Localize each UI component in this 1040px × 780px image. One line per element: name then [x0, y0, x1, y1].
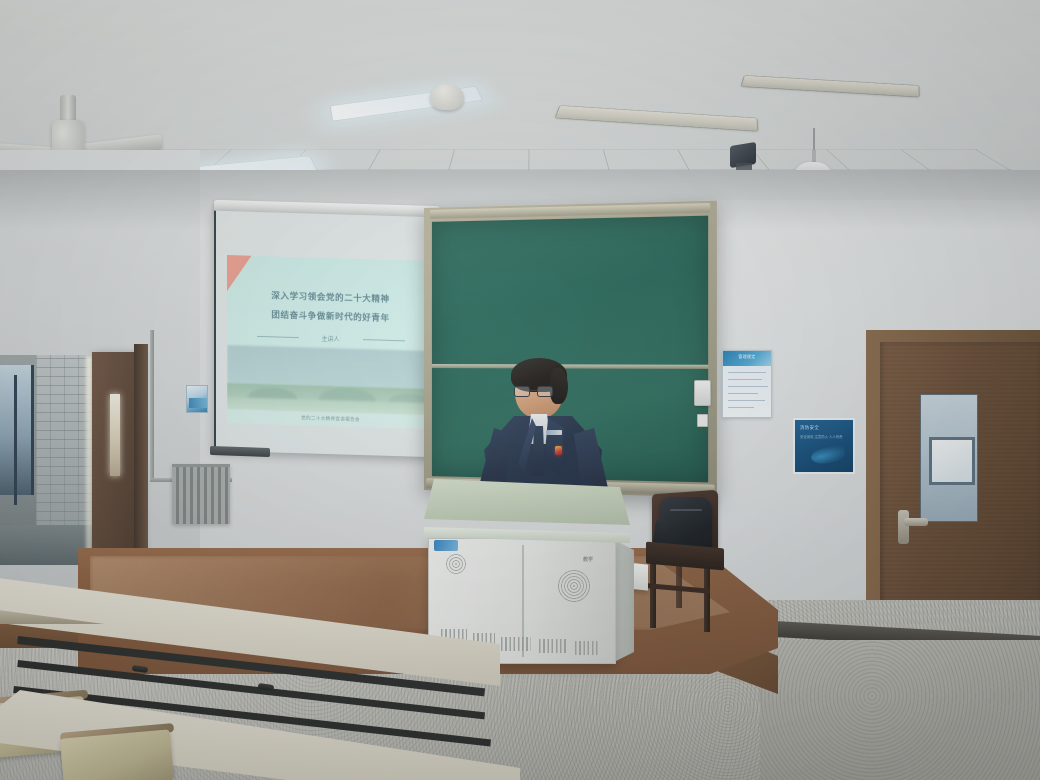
- podium-brand-sticker: [434, 540, 458, 551]
- fire-poster-graphic: [810, 444, 847, 467]
- poster-text-line: [728, 393, 758, 394]
- slide-foreground-graphic: [227, 383, 434, 415]
- podium-vent-slot: [539, 639, 567, 653]
- party-lapel-pin-icon: [555, 446, 562, 455]
- sign-color-strip: [189, 398, 207, 408]
- open-classroom-door[interactable]: [92, 352, 140, 568]
- door-handle-plate: [898, 510, 909, 544]
- exterior-window: [0, 365, 34, 495]
- left-door-frame: [134, 344, 148, 570]
- podium-speaker-grille-left: [445, 553, 467, 575]
- poster-text-line: [728, 379, 762, 380]
- podium-vent-slot: [575, 641, 599, 655]
- blue-wall-sign: [186, 385, 208, 413]
- slide-title-line-2: 团结奋斗争做新时代的好青年: [227, 307, 434, 325]
- fire-poster-title: 消防安全: [800, 425, 819, 431]
- window-mullion: [14, 375, 17, 505]
- wall-socket[interactable]: [697, 414, 708, 427]
- glasses-bridge: [530, 390, 537, 391]
- floor-right-section: [760, 640, 1040, 780]
- poster-text-line: [728, 372, 766, 373]
- poster-text-line: [728, 386, 768, 387]
- podium-vent-slot: [501, 637, 531, 651]
- poster-text-line: [728, 407, 754, 408]
- fire-poster-subtitle: 安全用电 注意防火 人人有责: [800, 435, 852, 440]
- smoke-detector-icon: [430, 84, 464, 110]
- slide-title-line-1: 深入学习领会党的二十大精神: [227, 288, 434, 306]
- projection-screen[interactable]: 深入学习领会党的二十大精神 团结奋斗争做新时代的好青年 主讲人 党的二十大精神宣…: [214, 211, 440, 458]
- door-window-pane: [920, 394, 978, 522]
- slide-footer-text: 党的二十大精神宣讲报告会: [227, 413, 434, 425]
- glasses-lens-left: [514, 386, 530, 397]
- chair-leg: [704, 566, 710, 632]
- poster-notice-title: 管理规定: [723, 354, 771, 360]
- wall-pipe-vertical: [150, 330, 154, 480]
- glasses-lens-right: [537, 386, 553, 397]
- backpack-zipper: [670, 509, 702, 511]
- cast-iron-radiator: [172, 464, 230, 524]
- podium-speaker-grille-right: [557, 569, 591, 603]
- person-name-badge: [546, 430, 562, 435]
- poster-text-line: [728, 400, 765, 401]
- wall-light-switch[interactable]: [694, 380, 711, 406]
- chair-leg: [650, 560, 656, 628]
- classroom-photo: 深入学习领会党的二十大精神 团结奋斗争做新时代的好青年 主讲人 党的二十大精神宣…: [0, 0, 1040, 780]
- eyeglasses-icon: [514, 386, 556, 397]
- door-glass-panel: [110, 394, 120, 476]
- fire-safety-poster: 消防安全 安全用电 注意防火 人人有责: [793, 418, 855, 474]
- podium-side-panel: [614, 540, 634, 662]
- podium-tag-text: 教学: [583, 556, 593, 563]
- audience-seat[interactable]: [60, 729, 174, 780]
- door-window-reflection: [929, 437, 975, 485]
- door-handle[interactable]: [904, 518, 928, 526]
- presentation-slide: 深入学习领会党的二十大精神 团结奋斗争做新时代的好青年 主讲人 党的二十大精神宣…: [227, 255, 434, 429]
- slide-author-label: 主讲人: [227, 331, 434, 346]
- classroom-notice-poster: 管理规定: [722, 350, 772, 418]
